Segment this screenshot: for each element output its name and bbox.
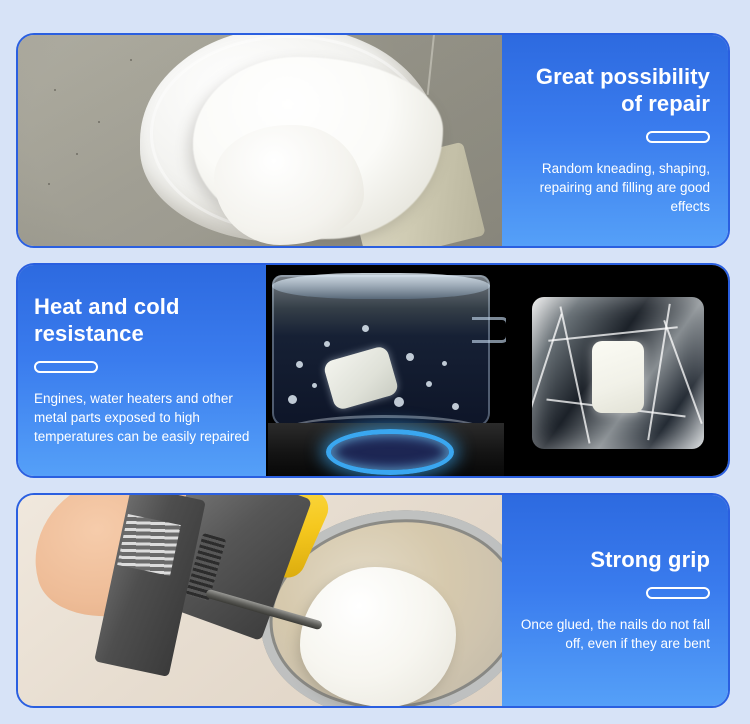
wall-speck: [54, 89, 56, 91]
feature-description: Engines, water heaters and other metal p…: [34, 389, 256, 446]
water-bubble: [324, 341, 330, 347]
product-feature-page: Great possibility of repair Random knead…: [0, 0, 750, 724]
hanging-wire: [427, 35, 436, 95]
water-bubble: [406, 353, 414, 361]
wall-speck: [130, 59, 132, 61]
feature-title: Strong grip: [590, 547, 710, 574]
feature-card-strong-grip: Strong grip Once glued, the nails do not…: [16, 493, 730, 708]
water-bubble: [426, 381, 432, 387]
feature-title: Great possibility of repair: [520, 64, 710, 118]
water-bubble: [442, 361, 447, 366]
water-bubble: [452, 403, 459, 410]
pill-divider-icon: [34, 361, 98, 373]
ice-fracture: [548, 326, 677, 342]
wall-speck: [76, 153, 78, 155]
pill-divider-icon: [646, 131, 710, 143]
wall-fixture-putty-photo: [18, 35, 502, 246]
feature-description: Random kneading, shaping, repairing and …: [520, 159, 710, 216]
ice-fracture: [559, 306, 590, 443]
ice-fracture: [663, 320, 703, 424]
pliers-bending-nail-photo: [18, 495, 502, 706]
gas-flame-ring: [326, 429, 454, 475]
feature-description: Once glued, the nails do not fall off, e…: [520, 615, 710, 653]
water-bubble: [362, 325, 369, 332]
ice-fracture: [647, 304, 671, 441]
putty-mound: [300, 567, 456, 706]
plier-teeth: [117, 514, 181, 576]
feature-card-heat-cold: Heat and cold resistance Engines, water …: [16, 263, 730, 478]
feature-text-panel-strong-grip: Strong grip Once glued, the nails do not…: [502, 495, 728, 706]
feature-title: Heat and cold resistance: [34, 294, 244, 348]
pill-divider-icon: [646, 587, 710, 599]
wall-speck: [48, 183, 50, 185]
ice-cube: [532, 297, 704, 449]
ice-fracture: [532, 314, 562, 429]
feature-text-panel-repair: Great possibility of repair Random knead…: [502, 35, 728, 246]
water-bubble: [394, 397, 404, 407]
pot-handle: [472, 317, 506, 343]
water-bubble: [296, 361, 303, 368]
pot-rim: [272, 273, 490, 299]
boiling-pot-photo: [266, 265, 506, 476]
putty-block-in-ice: [592, 341, 644, 413]
ice-cube-photo: [506, 265, 728, 476]
feature-text-panel-heat-cold: Heat and cold resistance Engines, water …: [18, 265, 266, 476]
water-bubble: [288, 395, 297, 404]
wall-speck: [98, 121, 100, 123]
putty-blob-secondary: [214, 125, 364, 245]
water-bubble: [312, 383, 317, 388]
feature-card-repair: Great possibility of repair Random knead…: [16, 33, 730, 248]
